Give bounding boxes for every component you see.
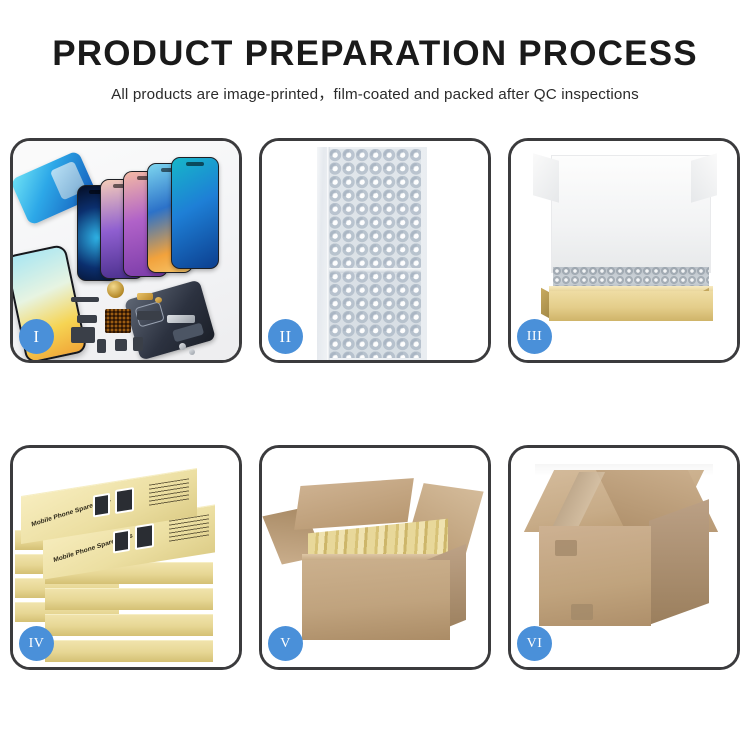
- spare-parts-group-icon: [71, 281, 201, 359]
- phone-screen-fan-icon: [75, 155, 239, 280]
- spec-text-lines-icon: [149, 478, 189, 506]
- step-panel-1[interactable]: I: [10, 138, 242, 363]
- carton-front-panel-icon: [302, 560, 450, 640]
- box-lid-icon: [551, 155, 711, 273]
- step-badge-1: I: [19, 319, 54, 354]
- step-badge-4: IV: [19, 626, 54, 661]
- product-photo-icon: [93, 493, 110, 518]
- screw-icon: [179, 343, 186, 350]
- sim-tray-icon: [97, 339, 106, 353]
- product-photo-icon: [113, 529, 130, 554]
- box-lid-right-flap-icon: [691, 153, 717, 202]
- carton-tab-icon: [571, 604, 593, 620]
- box-lid-left-flap-icon: [533, 153, 559, 202]
- stacked-box-icon: [45, 640, 213, 662]
- flex-cable-icon: [71, 297, 99, 302]
- phone-notch-icon: [186, 162, 204, 166]
- step-badge-2: II: [268, 319, 303, 354]
- product-photo-icon: [135, 523, 154, 550]
- stacked-box-icon: [45, 588, 213, 610]
- step-panel-4[interactable]: Mobile Phone Spare Parts Mobile Phone Sp…: [10, 445, 242, 670]
- screw-icon: [189, 349, 195, 355]
- stacked-box-icon: [45, 614, 213, 636]
- step-panel-6[interactable]: VI: [508, 445, 740, 670]
- page-header: PRODUCT PREPARATION PROCESS All products…: [0, 0, 750, 104]
- page-title: PRODUCT PREPARATION PROCESS: [0, 34, 750, 73]
- metal-bracket-icon: [167, 315, 195, 323]
- button-part-icon: [133, 337, 143, 351]
- pouch-fold-icon: [329, 268, 421, 273]
- gold-screw-icon: [155, 297, 162, 303]
- step-panel-2[interactable]: II: [259, 138, 491, 363]
- camera-module-icon: [137, 311, 161, 320]
- carton-tab-icon: [555, 540, 577, 556]
- carton-side-panel-icon: [649, 499, 709, 625]
- pouch-seam-icon: [327, 147, 330, 360]
- phone-screen-icon: [171, 157, 219, 269]
- process-steps-grid: I II III: [10, 138, 740, 670]
- carton-back-flap-icon: [294, 478, 414, 530]
- page-subtitle: All products are image-printed，film-coat…: [0, 82, 750, 104]
- screw-tray-icon: [105, 309, 131, 333]
- kraft-box-front-icon: [549, 291, 713, 321]
- step-panel-3[interactable]: III: [508, 138, 740, 363]
- speaker-part-icon: [107, 281, 124, 298]
- step-badge-6: VI: [517, 626, 552, 661]
- vibrator-icon: [115, 339, 127, 351]
- product-photo-icon: [115, 487, 134, 514]
- step-badge-3: III: [517, 319, 552, 354]
- small-flex-icon: [77, 315, 97, 323]
- step-badge-5: V: [268, 626, 303, 661]
- gold-connector-icon: [137, 293, 153, 300]
- ribbon-cable-icon: [71, 327, 95, 343]
- bubble-pattern-icon: [329, 149, 421, 358]
- step-panel-5[interactable]: V: [259, 445, 491, 670]
- bubble-wrap-pouch-icon: [317, 147, 427, 360]
